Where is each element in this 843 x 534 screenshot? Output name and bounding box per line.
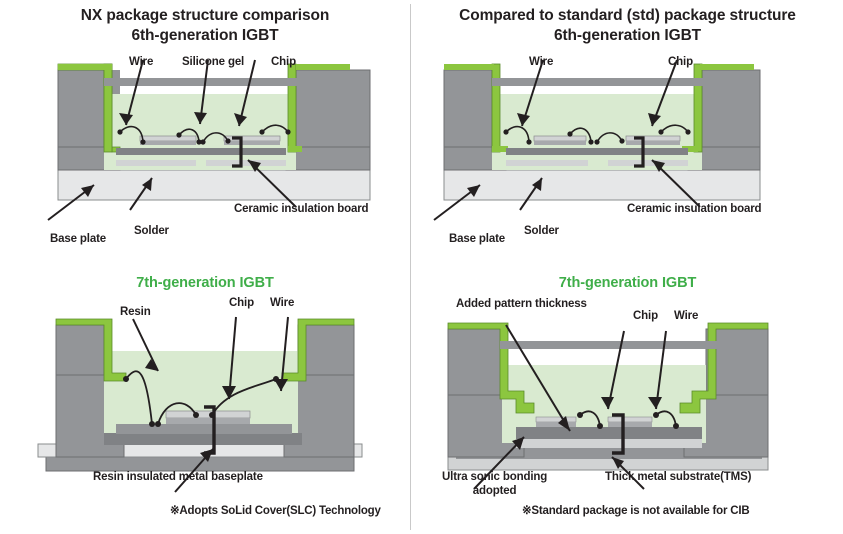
label-added-pattern-br: Added pattern thickness	[456, 297, 587, 311]
label-chip-bl: Chip	[229, 296, 254, 310]
label-silicone-gel-tl: Silicone gel	[182, 55, 244, 69]
title-line-2: 6th-generation IGBT	[0, 26, 410, 46]
label-wire-tl: Wire	[129, 55, 153, 69]
cross-section-std-6th	[412, 52, 843, 252]
label-wire-bl: Wire	[270, 296, 294, 310]
panel-nx-6th-gen: NX package structure comparison 6th-gene…	[0, 0, 410, 267]
title-line-1: Compared to standard (std) package struc…	[459, 7, 796, 24]
figure-root: NX package structure comparison 6th-gene…	[0, 0, 843, 534]
panel-title-bottom-left: 7th-generation IGBT	[0, 275, 410, 291]
label-solder-tl: Solder	[134, 224, 169, 238]
label-base-plate-tl: Base plate	[50, 232, 106, 246]
label-wire-tr: Wire	[529, 55, 553, 69]
vertical-divider	[410, 4, 411, 530]
footnote-bottom-right: ※Standard package is not available for C…	[522, 503, 749, 517]
panel-title-bottom-right: 7th-generation IGBT	[412, 275, 843, 291]
label-metal-baseplate-bl: Resin insulated metal baseplate	[93, 470, 263, 484]
label-ultrasonic-bonding-br: Ultra sonic bonding adopted	[442, 470, 547, 499]
label-chip-br: Chip	[633, 309, 658, 323]
title-line-2: 6th-generation IGBT	[412, 26, 843, 46]
label-ceramic-board-tr: Ceramic insulation board	[627, 202, 761, 216]
panel-std-7th-gen: 7th-generation IGBT	[412, 267, 843, 534]
panel-title-top-right: Compared to standard (std) package struc…	[412, 6, 843, 46]
ultrasonic-line-1: Ultra sonic bonding	[442, 471, 547, 483]
panel-std-6th-gen: Compared to standard (std) package struc…	[412, 0, 843, 267]
label-chip-tr: Chip	[668, 55, 693, 69]
label-base-plate-tr: Base plate	[449, 232, 505, 246]
label-ceramic-board-tl: Ceramic insulation board	[234, 202, 368, 216]
panel-nx-7th-gen: 7th-generation IGBT	[0, 267, 410, 534]
label-wire-br: Wire	[674, 309, 698, 323]
cross-section-nx-6th	[0, 52, 410, 252]
label-solder-tr: Solder	[524, 224, 559, 238]
footnote-bottom-left: ※Adopts SoLid Cover(SLC) Technology	[170, 503, 381, 517]
ultrasonic-line-2: adopted	[442, 484, 547, 498]
panel-title-top-left: NX package structure comparison 6th-gene…	[0, 6, 410, 46]
label-chip-tl: Chip	[271, 55, 296, 69]
label-resin-bl: Resin	[120, 305, 151, 319]
label-tms-br: Thick metal substrate(TMS)	[605, 470, 751, 484]
title-line-1: NX package structure comparison	[81, 7, 329, 24]
